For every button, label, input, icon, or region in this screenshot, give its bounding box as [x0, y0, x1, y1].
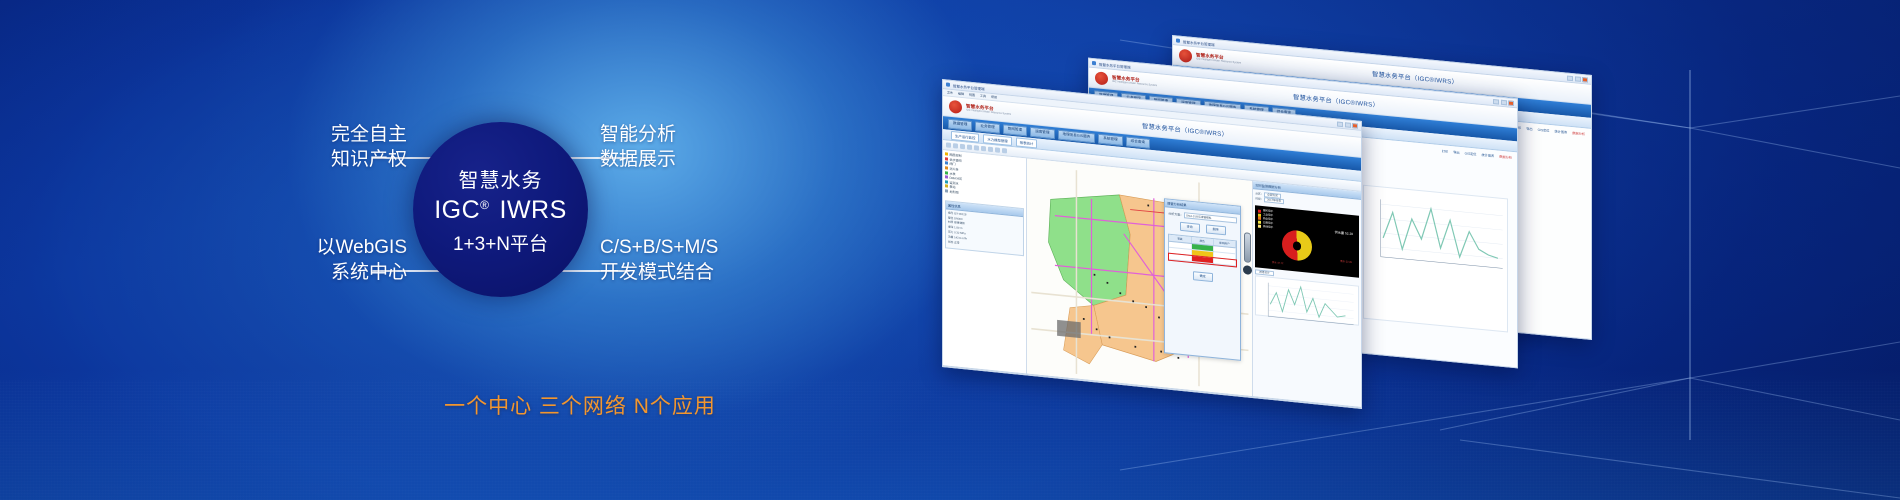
nav-item[interactable]: 系统管理 [1098, 133, 1122, 145]
zoom-in-icon[interactable] [960, 144, 965, 150]
minimize-icon[interactable] [1493, 99, 1499, 105]
property-rows: 编号 GX-00128 管径 DN300 材质 球墨铸铁 埋深 1.80 m 压… [946, 209, 1023, 255]
window-controls[interactable] [1337, 121, 1358, 128]
maximize-icon[interactable] [1501, 99, 1507, 105]
hub-brand: IGC ® IWRS [434, 198, 567, 223]
toolbar-item[interactable]: 导出 [1526, 126, 1532, 132]
confirm-button[interactable]: 确定 [1193, 271, 1213, 282]
select-icon[interactable] [981, 146, 986, 152]
label-bottom-left-line1: 以WebGIS [192, 235, 407, 260]
query-button[interactable]: 查询 [1180, 222, 1200, 233]
screenshot-stack: 影像地图 [960, 0, 1620, 500]
banner-root: 完全自主 知识产权 以WebGIS 系统中心 智能分析 数据展示 C/S+B/S… [0, 0, 1900, 500]
hub-brand-iwrs: IWRS [500, 198, 567, 223]
layer-swatch [945, 157, 948, 160]
identify-icon[interactable] [995, 147, 1000, 153]
status-ready: 就绪 [1351, 408, 1357, 409]
nav-item[interactable]: 数据管理 [948, 118, 972, 130]
window-front[interactable]: 智慧水务平台管理端 文件 编辑 视图 工具 帮助 智慧水务平台 IGC Inte… [942, 79, 1362, 409]
tagline: 一个中心 三个网络 N个应用 [360, 390, 800, 420]
window-controls[interactable] [1493, 99, 1514, 106]
toolbar-item[interactable]: 数据分析 [1499, 154, 1512, 160]
pie-left-label: 供水 47.72 [1272, 260, 1283, 265]
minimize-icon[interactable] [1337, 121, 1343, 127]
analysis-dialog[interactable]: 爆管分析结果 分析方案： DMA-01分区爆管模拟 查询 删除 [1164, 198, 1241, 360]
menu-item[interactable]: 文件 [947, 91, 953, 96]
window-controls[interactable] [1567, 75, 1588, 82]
layer-swatch [945, 162, 948, 165]
toolbar-item[interactable]: 导出 [1453, 149, 1459, 155]
label-top-right: 智能分析 数据展示 [600, 122, 830, 173]
pan-compass-icon[interactable] [1243, 265, 1252, 275]
window-mid-logotext: 智慧水务平台 IGC Intelligent Water Resource Sy… [1112, 75, 1157, 88]
logo-subtitle: IGC Intelligent Water Resource System [966, 109, 1011, 116]
toolbar-item[interactable]: GIS定位 [1538, 127, 1550, 133]
legend-swatch [1258, 221, 1261, 224]
layer-swatch [945, 180, 948, 183]
hub-brand-igc: IGC [434, 198, 480, 223]
subnav-item[interactable]: 报表统计 [1016, 137, 1038, 148]
print-icon[interactable] [1002, 148, 1007, 154]
menu-item[interactable]: 帮助 [991, 95, 997, 100]
monitor-panel[interactable]: 实时监测数据分析 分区： 全部分区 时段： 2017年全年 [1252, 181, 1361, 407]
trend-chart-panel[interactable] [1363, 185, 1509, 332]
legend-swatch [1258, 217, 1261, 220]
label-bottom-left: 以WebGIS 系统中心 [192, 235, 407, 286]
toolbar-item[interactable]: 统计图表 [1482, 152, 1495, 158]
analysis-dialog-footer[interactable]: 确定 [1168, 268, 1237, 284]
layer-swatch [945, 176, 948, 179]
nav-item[interactable]: 管网管理 [1003, 124, 1027, 136]
gis-map-canvas[interactable]: 爆管分析结果 分析方案： DMA-01分区爆管模拟 查询 删除 [1027, 158, 1253, 396]
legend-swatch [1258, 213, 1261, 216]
nav-item[interactable]: 综合查询 [1126, 136, 1150, 148]
layer-tree[interactable]: 图层控制 供水管网 阀门 消火栓 水表 DMA分区 监测点 泵站 地形图 [945, 152, 1024, 202]
analysis-dialog-body: 分析方案： DMA-01分区爆管模拟 查询 删除 等级 颜色 [1165, 207, 1240, 291]
window-mid-toolbar[interactable]: 打印 导出 GIS定位 统计图表 数据分析 [1442, 148, 1512, 160]
pie-legend-item: 其他用水 [1258, 224, 1273, 229]
close-icon[interactable] [1508, 100, 1514, 106]
app-icon [1092, 61, 1096, 65]
layer-swatch [945, 166, 948, 169]
label-top-right-line1: 智能分析 [600, 122, 830, 147]
minimize-icon[interactable] [1567, 75, 1573, 81]
pie-right-label: 售水 52.28 [1340, 258, 1351, 263]
logo-subtitle: IGC Intelligent Water Resource System [1196, 58, 1241, 65]
map-navigation-control[interactable] [1243, 232, 1252, 291]
toolbar-item[interactable]: GIS定位 [1465, 150, 1477, 156]
maximize-icon[interactable] [1345, 122, 1351, 128]
layer-swatch [945, 189, 948, 192]
period-select[interactable]: 2017年全年 [1264, 197, 1284, 204]
window-back-logotext: 智慧水务平台 IGC Intelligent Water Resource Sy… [1196, 53, 1241, 66]
analysis-field-value[interactable]: DMA-01分区爆管模拟 [1184, 212, 1237, 223]
app-icon [946, 82, 950, 86]
label-top-right-line2: 数据展示 [600, 147, 830, 172]
hub-title: 智慧水务 [459, 164, 543, 193]
zoom-out-icon[interactable] [967, 145, 972, 151]
company-logo-icon [1095, 71, 1108, 85]
menu-item[interactable]: 工具 [980, 94, 986, 99]
hub-platform: 1+3+N平台 [453, 229, 548, 256]
save-icon[interactable] [953, 143, 958, 149]
label-bottom-right-line2: 开发模式结合 [600, 260, 830, 285]
toolbar-item[interactable]: 统计图表 [1555, 128, 1568, 134]
pie-graphic [1282, 229, 1312, 262]
status-coords: 坐标 X:4528 Y:3912 [975, 371, 1000, 377]
label-top-left: 完全自主 知识产权 [192, 122, 407, 173]
open-icon[interactable] [946, 142, 951, 148]
legend-swatch [1258, 209, 1261, 212]
label-bottom-right-line1: C/S+B/S+M/S [600, 235, 830, 260]
zoom-slider[interactable] [1244, 232, 1251, 263]
window-front-body: 图层控制 供水管网 阀门 消火栓 水表 DMA分区 监测点 泵站 地形图 属性信… [943, 150, 1361, 407]
level-color-swatch [1192, 256, 1214, 263]
legend-swatch [1258, 225, 1261, 228]
label-top-left-line2: 知识产权 [192, 147, 407, 172]
menu-item[interactable]: 编辑 [958, 92, 964, 97]
pie-value-label: 供水量 52.28 [1335, 230, 1353, 237]
property-panel[interactable]: 属性信息 编号 GX-00128 管径 DN300 材质 球墨铸铁 埋深 1.8… [945, 200, 1024, 256]
window-front-logotext: 智慧水务平台 IGC Intelligent Water Resource Sy… [966, 104, 1011, 117]
nav-item[interactable]: 调度管理 [1030, 126, 1054, 138]
supply-pie-chart[interactable]: 居民用水 工业用水 商业用水 公建用水 其他用水 供水量 52.28 供水 47… [1255, 206, 1359, 278]
analysis-field-label: 分析方案： [1168, 211, 1183, 217]
menu-item[interactable]: 视图 [969, 93, 975, 98]
delete-button[interactable]: 删除 [1206, 224, 1226, 235]
pie-legend: 居民用水 工业用水 商业用水 公建用水 其他用水 [1258, 209, 1273, 230]
logo-subtitle: IGC Intelligent Water Resource System [1112, 81, 1157, 88]
layer-swatch [945, 171, 948, 174]
maximize-icon[interactable] [1575, 76, 1581, 82]
label-top-left-line1: 完全自主 [192, 122, 407, 147]
pan-icon[interactable] [974, 145, 979, 151]
monthly-supply-chart[interactable] [1255, 276, 1359, 326]
company-logo-icon [1179, 49, 1192, 63]
toolbar-item[interactable]: 打印 [1442, 148, 1448, 154]
app-icon [1176, 38, 1180, 42]
measure-icon[interactable] [988, 147, 993, 153]
analysis-result-table[interactable]: 等级 颜色 影响用户 [1168, 233, 1237, 267]
window-back-toolbar[interactable]: 打印 导出 GIS定位 统计图表 数据分析 [1515, 125, 1585, 137]
label-bottom-left-line2: 系统中心 [192, 260, 407, 285]
layer-swatch [945, 152, 948, 155]
layer-swatch [945, 185, 948, 188]
registered-mark-icon: ® [480, 199, 489, 211]
hub-circle: 智慧水务 IGC ® IWRS 1+3+N平台 [413, 122, 588, 297]
monthly-supply-svg [1256, 277, 1358, 332]
layer-tree-pane[interactable]: 图层控制 供水管网 阀门 消火栓 水表 DMA分区 监测点 泵站 地形图 属性信… [943, 150, 1027, 373]
toolbar-item[interactable]: 数据分析 [1572, 130, 1585, 136]
close-icon[interactable] [1352, 123, 1358, 129]
close-icon[interactable] [1582, 77, 1588, 83]
label-bottom-right: C/S+B/S+M/S 开发模式结合 [600, 235, 830, 286]
company-logo-icon [949, 100, 962, 114]
trend-chart-svg [1364, 186, 1507, 283]
nav-item[interactable]: 业务管理 [975, 121, 999, 133]
